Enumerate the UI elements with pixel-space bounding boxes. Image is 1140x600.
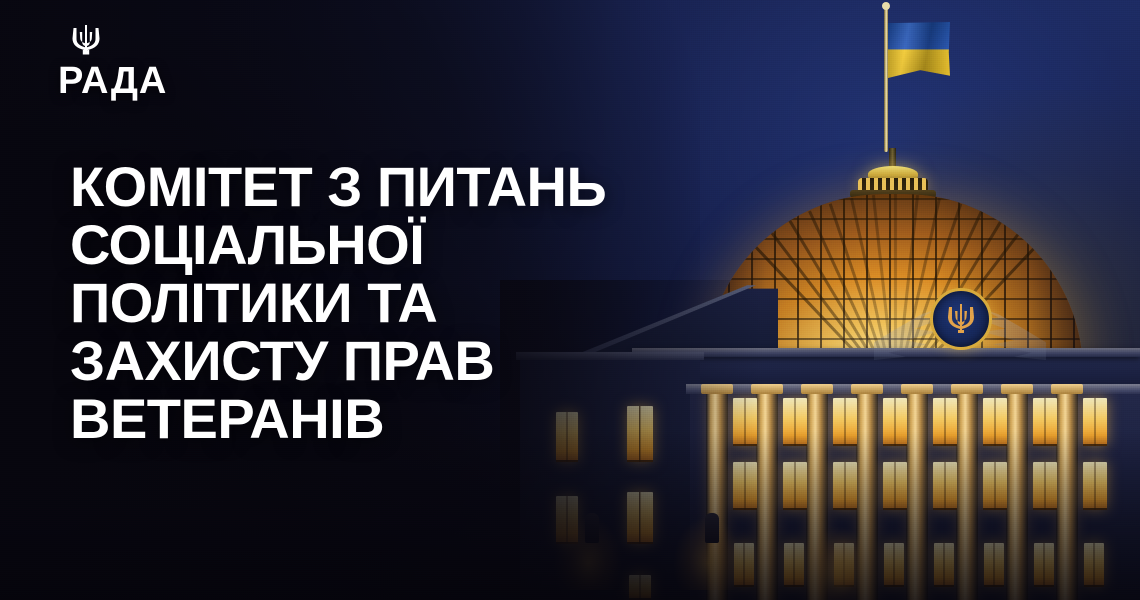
title-line-5: ВЕТЕРАНІВ	[70, 390, 830, 448]
title-line-1: КОМІТЕТ З ПИТАНЬ	[70, 158, 830, 216]
title-line-2: СОЦІАЛЬНОЇ	[70, 216, 830, 274]
committee-banner: РАДА КОМІТЕТ З ПИТАНЬ СОЦІАЛЬНОЇ ПОЛІТИК…	[0, 0, 1140, 600]
ukrainian-trident-icon	[68, 24, 104, 56]
page-title: КОМІТЕТ З ПИТАНЬ СОЦІАЛЬНОЇ ПОЛІТИКИ ТА …	[70, 158, 830, 448]
rada-wordmark: РАДА	[58, 62, 318, 100]
title-line-3: ПОЛІТИКИ ТА	[70, 274, 830, 332]
title-line-4: ЗАХИСТУ ПРАВ	[70, 332, 830, 390]
rada-logo[interactable]: РАДА	[58, 24, 318, 100]
